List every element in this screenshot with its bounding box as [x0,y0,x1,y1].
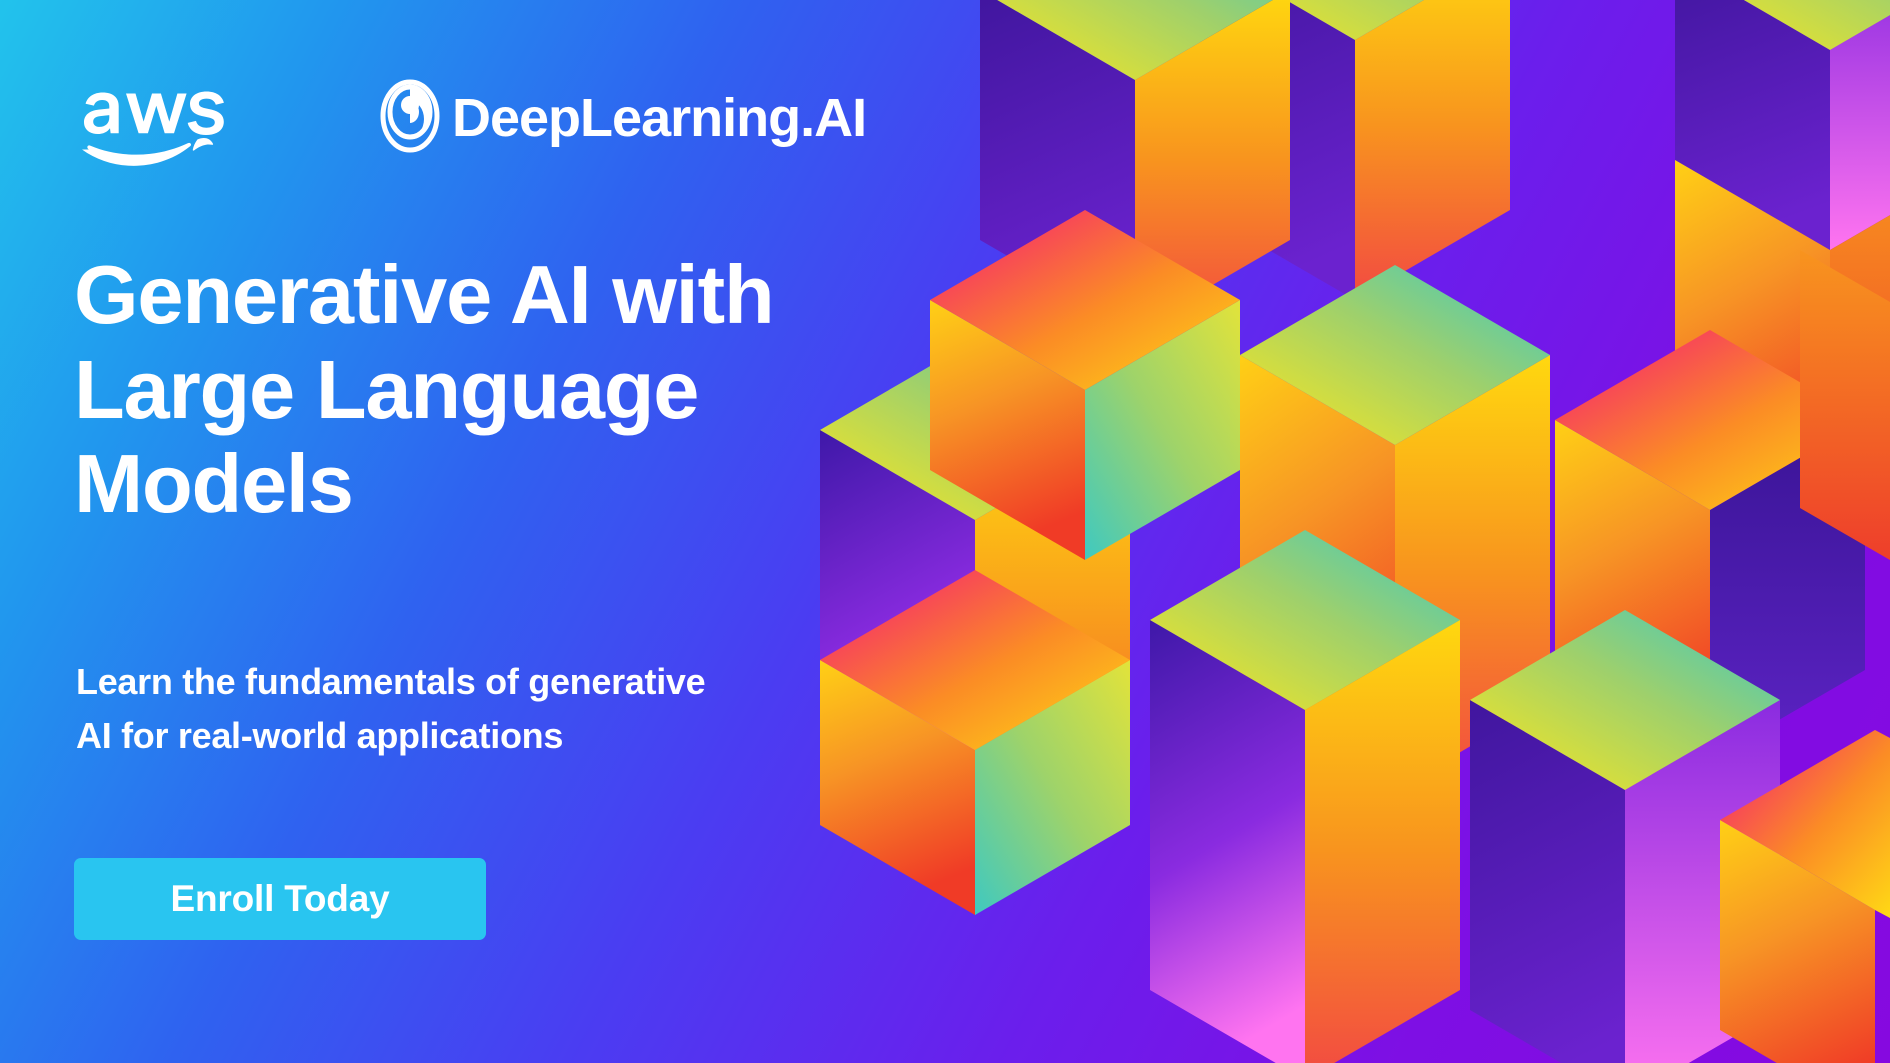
promo-banner: DeepLearning.AI Generative AI with Large… [0,0,1890,1063]
subtitle: Learn the fundamentals of generative AI … [76,655,896,763]
subtitle-line-1: Learn the fundamentals of generative [76,655,896,709]
deeplearning-ai-logo: DeepLearning.AI [244,78,954,154]
aws-logo [74,62,244,170]
headline-line-2: Large Language [74,343,914,438]
page-title: Generative AI with Large Language Models [74,248,914,532]
subtitle-line-2: AI for real-world applications [76,709,896,763]
logo-row: DeepLearning.AI [74,62,954,170]
banner-content: DeepLearning.AI Generative AI with Large… [74,0,954,1063]
headline-line-1: Generative AI with [74,248,914,343]
concentric-spiral-icon [383,82,437,150]
enroll-today-button[interactable]: Enroll Today [74,858,486,940]
isometric-cubes-illustration [820,0,1890,1063]
deeplearning-ai-wordmark: DeepLearning.AI [452,88,866,148]
headline-line-3: Models [74,437,914,532]
